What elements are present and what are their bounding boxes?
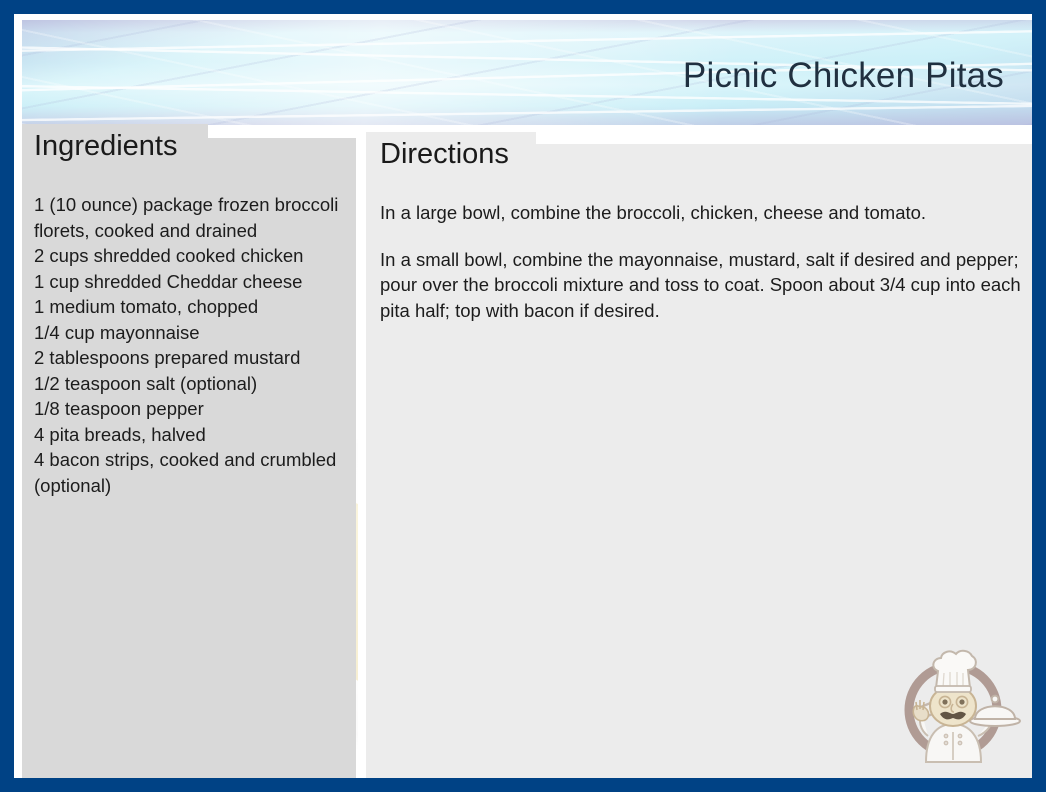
slide-frame: Picnic Chicken Pitas Ingredients 1 (10 o…: [0, 0, 1046, 792]
directions-heading: Directions: [380, 138, 509, 171]
list-item: 1/2 teaspoon salt (optional): [34, 371, 352, 397]
list-item: 1/8 teaspoon pepper: [34, 396, 352, 422]
list-item: 1 medium tomato, chopped: [34, 294, 352, 320]
page-title: Picnic Chicken Pitas: [683, 56, 1004, 96]
list-item: 1 (10 ounce) package frozen broccoli flo…: [34, 192, 352, 243]
ingredients-heading: Ingredients: [34, 130, 178, 163]
directions-body: In a large bowl, combine the broccoli, c…: [380, 200, 1026, 323]
list-item: 2 tablespoons prepared mustard: [34, 345, 352, 371]
direction-step: In a large bowl, combine the broccoli, c…: [380, 200, 1026, 226]
ingredients-list: 1 (10 ounce) package frozen broccoli flo…: [34, 192, 352, 498]
list-item: 2 cups shredded cooked chicken: [34, 243, 352, 269]
direction-step: In a small bowl, combine the mayonnaise,…: [380, 247, 1026, 324]
slide-page: Picnic Chicken Pitas Ingredients 1 (10 o…: [14, 14, 1032, 778]
list-item: 4 pita breads, halved: [34, 422, 352, 448]
list-item: 1 cup shredded Cheddar cheese: [34, 269, 352, 295]
chef-with-cloche-logo: [896, 644, 1022, 770]
list-item: 1/4 cup mayonnaise: [34, 320, 352, 346]
column-divider: [358, 138, 366, 778]
list-item: 4 bacon strips, cooked and crumbled (opt…: [34, 447, 352, 498]
